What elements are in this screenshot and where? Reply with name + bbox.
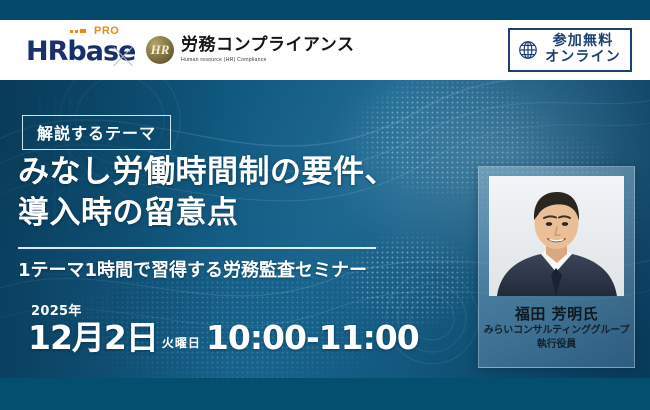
event-date-block: 2025年 12月2日 火曜日 10:00-11:00 (28, 300, 419, 354)
free-online-badge: 参加無料 オンライン (508, 28, 632, 72)
headline-line-1: みなし労働時間制の要件、 (18, 152, 458, 193)
roumu-compliance-subtitle: Human resource (HR) Compliance (181, 58, 354, 64)
speaker-photo (489, 176, 624, 296)
event-weekday: 火曜日 (162, 334, 201, 351)
speaker-org-line-1: みらいコンサルティンググループ (479, 324, 634, 338)
cross-separator-icon (110, 44, 136, 70)
speaker-portrait-icon (489, 176, 624, 296)
hrbase-logo-hr: HR (26, 36, 67, 67)
roumu-compliance-text: 労務コンプライアンス Human resource (HR) Complianc… (181, 37, 354, 63)
seminar-banner: PRO HRbase HR 労務コンプライアンス Human resource … (0, 0, 650, 410)
event-year: 2025年 (31, 300, 419, 319)
event-time: 10:00-11:00 (206, 321, 419, 354)
headline-line-2: 導入時の留意点 (18, 193, 458, 234)
series-subtitle: 1テーマ1時間で習得する労務監査セミナー (18, 256, 367, 282)
pro-dots-icon (70, 29, 86, 33)
headline-divider (18, 247, 376, 249)
pro-label: PRO (94, 26, 119, 37)
top-bar (0, 0, 650, 20)
speaker-org-line-2: 執行役員 (479, 338, 634, 352)
hr-monogram-icon: HR (146, 36, 174, 64)
bottom-bar (0, 378, 650, 410)
speaker-name: 福田 芳明氏 (479, 303, 634, 324)
badge-text: 参加無料 オンライン (545, 34, 621, 65)
globe-icon (517, 39, 539, 61)
event-day: 12月2日 (28, 321, 158, 354)
roumu-compliance-title: 労務コンプライアンス (181, 37, 354, 55)
theme-chip: 解説するテーマ (22, 115, 171, 150)
roumu-compliance-logo[interactable]: HR 労務コンプライアンス Human resource (HR) Compli… (146, 36, 354, 64)
headline: みなし労働時間制の要件、 導入時の留意点 (18, 152, 458, 234)
badge-line-free: 参加無料 (545, 34, 621, 50)
speaker-organization: みらいコンサルティンググループ 執行役員 (479, 324, 634, 351)
speaker-card: 福田 芳明氏 みらいコンサルティンググループ 執行役員 (478, 166, 635, 368)
event-date-line: 12月2日 火曜日 10:00-11:00 (28, 321, 419, 354)
badge-line-online: オンライン (545, 50, 621, 66)
